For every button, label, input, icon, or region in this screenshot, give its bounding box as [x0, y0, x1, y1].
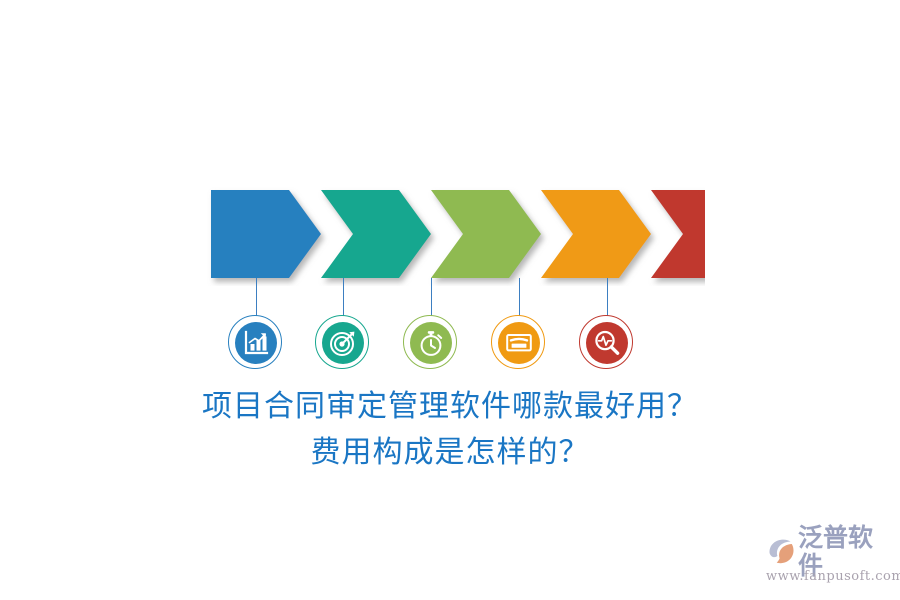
connector-line-5 [607, 278, 608, 316]
presentation-board-icon [504, 328, 534, 358]
fanpu-logo-icon [766, 538, 796, 566]
watermark-brand-row: 泛普软件 [766, 536, 894, 568]
chevron-segment-1[interactable] [211, 190, 321, 278]
connector-line-4 [519, 278, 520, 316]
stopwatch-icon [416, 328, 446, 358]
process-chevron-banner [205, 186, 705, 286]
page-title-line-2: 费用构成是怎样的？ [0, 430, 900, 476]
watermark-url-text: www.fanpusoft.com [766, 569, 894, 584]
node-presentation[interactable] [491, 315, 547, 371]
bar-chart-growth-icon [241, 328, 271, 358]
chevron-segment-5[interactable] [651, 190, 705, 278]
chevron-segment-4[interactable] [541, 190, 651, 278]
slide-canvas: 项目合同审定管理软件哪款最好用？ 费用构成是怎样的？ 泛普软件 www.fanp… [0, 0, 900, 600]
node-stopwatch[interactable] [403, 315, 459, 371]
connector-line-1 [256, 278, 257, 316]
connector-line-3 [431, 278, 432, 316]
node-analysis[interactable] [228, 315, 284, 371]
watermark-logo: 泛普软件 www.fanpusoft.com [766, 536, 894, 588]
chevron-segment-2[interactable] [321, 190, 431, 278]
magnifier-pulse-icon [592, 328, 622, 358]
target-arrow-icon [328, 328, 358, 358]
page-title-line-1: 项目合同审定管理软件哪款最好用？ [0, 384, 900, 430]
node-inspection[interactable] [579, 315, 635, 371]
connector-line-2 [343, 278, 344, 316]
chevron-banner-svg [205, 186, 705, 286]
node-target[interactable] [315, 315, 371, 371]
chevron-segment-3[interactable] [431, 190, 541, 278]
page-title: 项目合同审定管理软件哪款最好用？ 费用构成是怎样的？ [0, 384, 900, 476]
